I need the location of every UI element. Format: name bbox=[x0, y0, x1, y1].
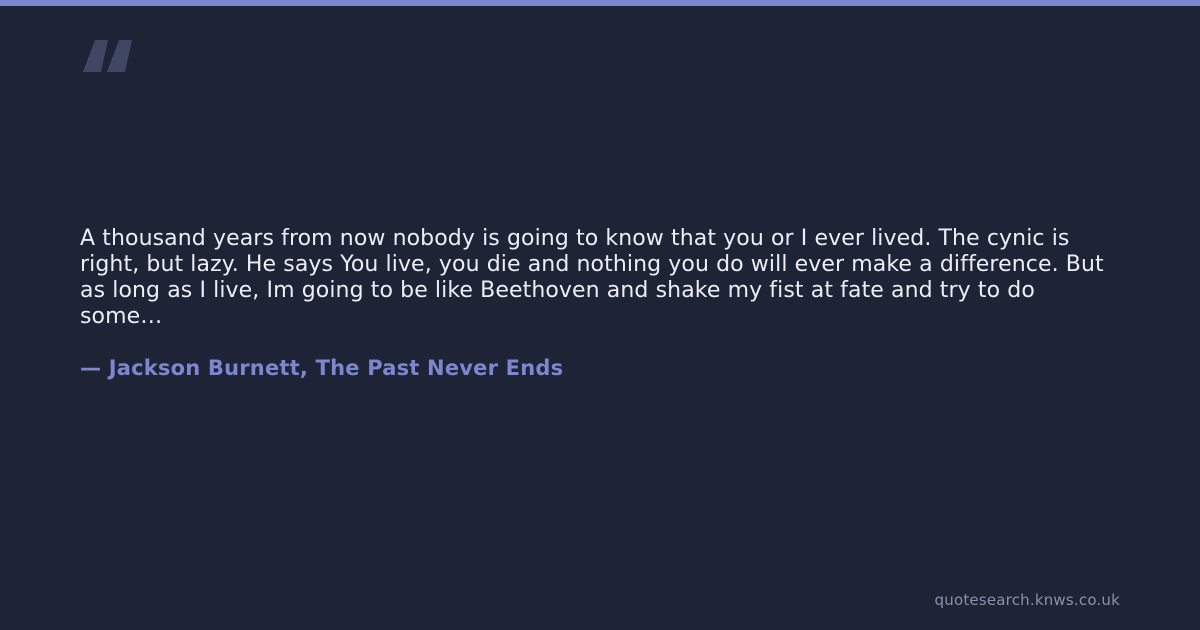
source-url: quotesearch.knws.co.uk bbox=[935, 591, 1120, 609]
quote-card: A thousand years from now nobody is goin… bbox=[0, 0, 1200, 630]
quotation-mark-icon bbox=[80, 34, 140, 84]
top-accent-bar bbox=[0, 0, 1200, 6]
quote-body: A thousand years from now nobody is goin… bbox=[80, 226, 1110, 330]
quote-attribution: — Jackson Burnett, The Past Never Ends bbox=[80, 355, 563, 381]
quote-text: A thousand years from now nobody is goin… bbox=[80, 226, 1110, 330]
